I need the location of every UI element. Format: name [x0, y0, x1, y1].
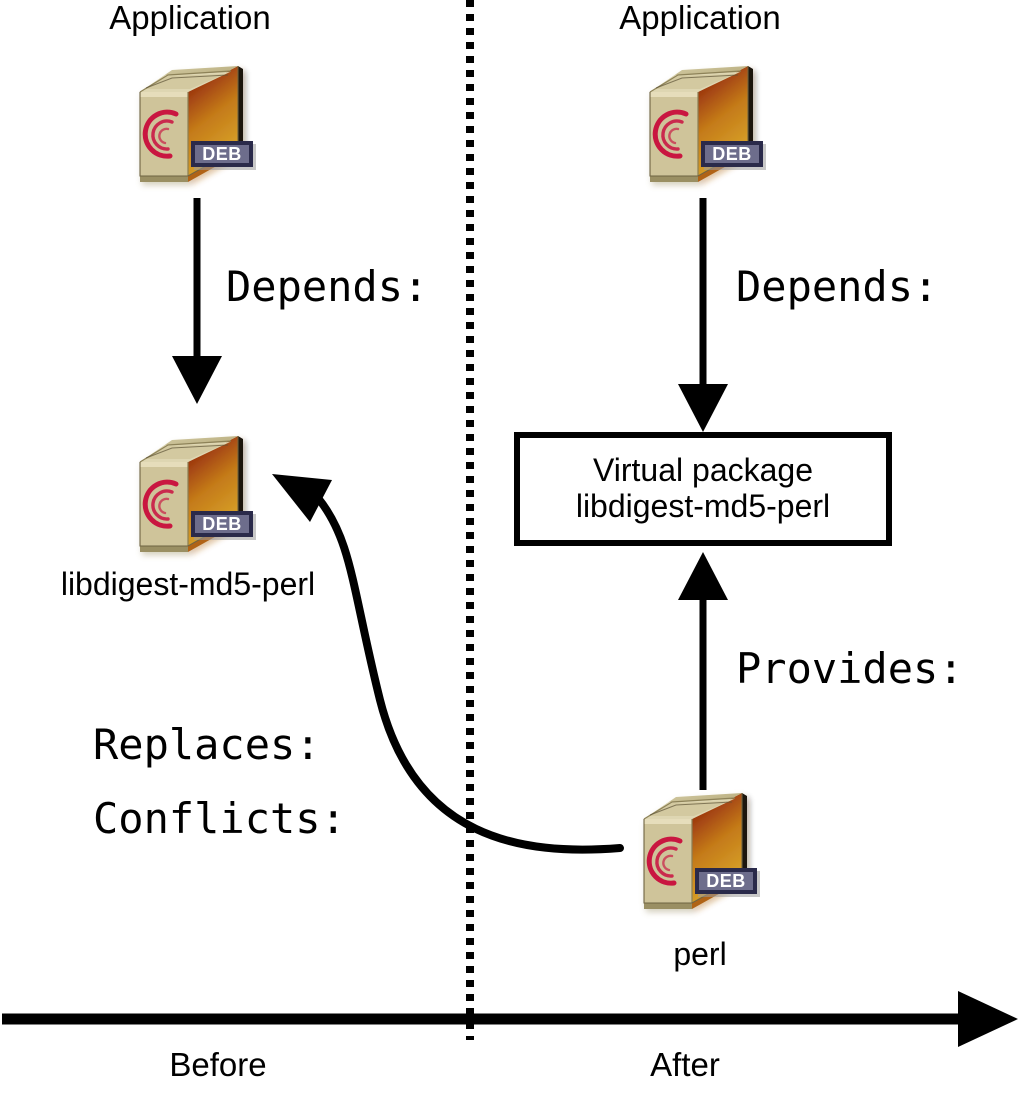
- before-after-divider: [466, 0, 474, 1040]
- after-depends-label: Depends:: [736, 266, 938, 308]
- after-application-label: Application: [619, 1, 780, 34]
- virtual-package-title: Virtual package: [593, 453, 813, 489]
- timeline-after-label: After: [650, 1048, 720, 1081]
- before-libdigest-label: libdigest-md5-perl: [61, 568, 315, 600]
- after-application-package-icon: DEB: [620, 48, 780, 198]
- svg-text:DEB: DEB: [706, 871, 746, 891]
- replaces-label: Replaces:: [93, 724, 321, 766]
- before-application-label: Application: [109, 1, 270, 34]
- provides-arrow: [678, 552, 728, 790]
- svg-text:DEB: DEB: [712, 144, 752, 164]
- before-libdigest-package-icon: DEB: [110, 418, 270, 568]
- provides-label: Provides:: [736, 648, 964, 690]
- timeline-before-label: Before: [169, 1048, 266, 1081]
- conflicts-label: Conflicts:: [93, 798, 346, 840]
- after-perl-label: perl: [673, 938, 726, 970]
- svg-text:DEB: DEB: [202, 144, 242, 164]
- after-perl-package-icon: DEB: [614, 775, 774, 925]
- deb-badge: DEB: [701, 141, 766, 170]
- deb-badge: DEB: [695, 868, 760, 897]
- before-application-package-icon: DEB: [110, 48, 270, 198]
- deb-badge: DEB: [191, 141, 256, 170]
- diagram-canvas: Application: [0, 0, 1024, 1094]
- virtual-package-box: Virtual package libdigest-md5-perl: [514, 432, 892, 546]
- svg-text:DEB: DEB: [202, 514, 242, 534]
- time-axis-arrow: [2, 991, 1018, 1047]
- deb-badge: DEB: [191, 511, 256, 540]
- after-depends-arrow: [678, 198, 728, 432]
- before-depends-arrow: [172, 198, 222, 404]
- virtual-package-name: libdigest-md5-perl: [576, 489, 830, 525]
- before-depends-label: Depends:: [226, 266, 428, 308]
